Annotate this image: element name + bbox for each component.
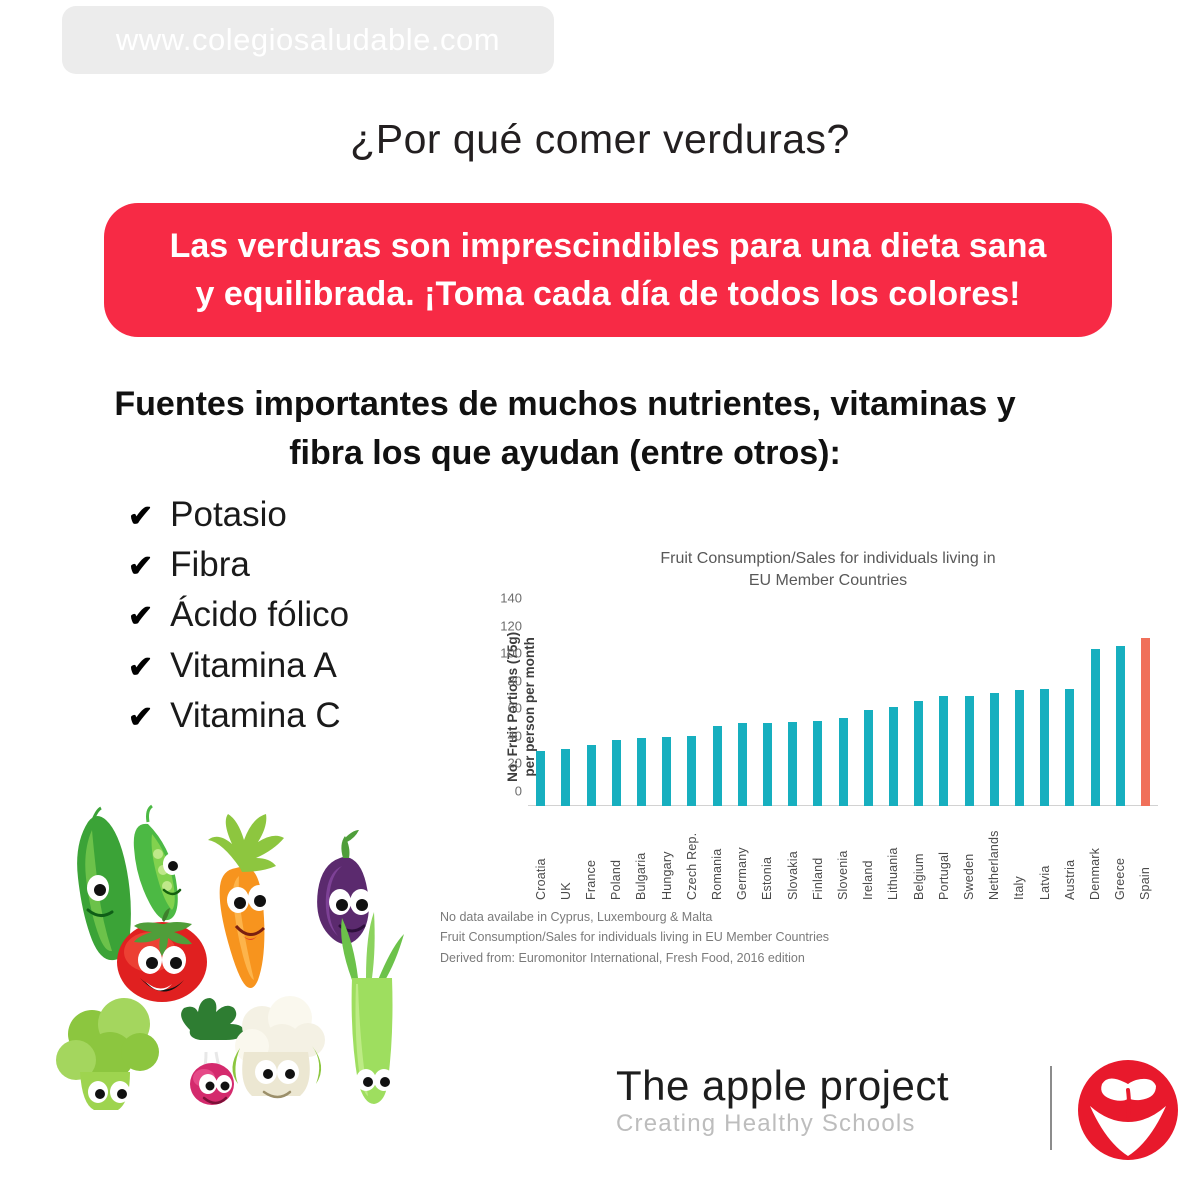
chart-x-tick-wrap: Austria [1057,808,1082,900]
chart-bar [738,723,747,806]
chart-x-tick-label: Denmark [1088,808,1102,900]
chart-bar [536,751,545,806]
chart-x-tick-label: Croatia [534,808,548,900]
chart-x-tick-label: Romania [710,808,724,900]
chart-bar-wrap [830,613,855,806]
chart-bar [1065,689,1074,806]
chart-y-tick: 140 [500,591,522,606]
chart-bar [864,710,873,807]
chart-x-tick-wrap: Denmark [1082,808,1107,900]
list-item-label: Potasio [170,492,287,538]
chart-x-tick-label: Bulgaria [634,808,648,900]
chart-bar [1015,690,1024,806]
highlight-banner: Las verduras son imprescindibles para un… [104,203,1112,337]
chart-x-tick-label: Slovenia [836,808,850,900]
list-item: ✔ Ácido fólico [128,592,349,638]
chart-bar-wrap [1108,613,1133,806]
check-icon: ✔ [128,602,153,632]
list-item-label: Vitamina C [170,693,341,739]
chart-x-tick-wrap: UK [553,808,578,900]
chart-bar-wrap [1133,613,1158,806]
chart-bar-wrap [1007,613,1032,806]
vegetables-svg [40,780,410,1110]
chart-title-line-1: Fruit Consumption/Sales for individuals … [548,548,1108,570]
chart-bar-wrap [654,613,679,806]
list-item: ✔ Potasio [128,492,349,538]
chart-x-tick-wrap: Greece [1108,808,1133,900]
list-item-label: Vitamina A [170,643,337,689]
chart-plot-area: 020406080100120140 [528,613,1158,806]
chart-bar [561,749,570,806]
chart-x-tick-label: Greece [1113,808,1127,900]
check-icon: ✔ [128,703,153,733]
chart-bar-wrap [881,613,906,806]
chart-bar-wrap [906,613,931,806]
page-title: ¿Por qué comer verduras? [0,116,1200,163]
chart-bar-wrap [1082,613,1107,806]
chart-x-tick-wrap: Netherlands [982,808,1007,900]
chart-x-tick-wrap: Slovenia [830,808,855,900]
chart-footnote: No data availabe in Cyprus, Luxembourg &… [440,907,1040,968]
chart-x-tick-wrap: Czech Rep. [679,808,704,900]
chart-bar [1141,638,1150,806]
chart-y-tick: 80 [508,673,522,688]
chart-bar-wrap [679,613,704,806]
chart-bar [788,722,797,806]
chart-bar-wrap [805,613,830,806]
chart-x-tick-wrap: Belgium [906,808,931,900]
radish-icon [181,998,244,1105]
chart-x-tick-wrap: France [578,808,603,900]
chart-bar [1116,646,1125,806]
check-icon: ✔ [128,653,153,683]
chart-x-tick-wrap: Finland [805,808,830,900]
chart-x-tick-wrap: Latvia [1032,808,1057,900]
chart-bar-wrap [553,613,578,806]
chart-x-tick-wrap: Romania [704,808,729,900]
chart-bar-wrap [1057,613,1082,806]
chart-x-tick-wrap: Lithuania [881,808,906,900]
banner-line-1: Las verduras son imprescindibles para un… [170,222,1047,270]
chart-x-tick-wrap: Hungary [654,808,679,900]
chart-x-tick-label: Belgium [912,808,926,900]
check-icon: ✔ [128,552,153,582]
list-item: ✔ Vitamina C [128,693,349,739]
chart-y-tick: 100 [500,646,522,661]
chart-bar-wrap [629,613,654,806]
footnote-line-1: No data availabe in Cyprus, Luxembourg &… [440,907,1040,927]
chart-x-tick-label: UK [559,808,573,900]
chart-bar-wrap [704,613,729,806]
chart-bar [914,701,923,806]
chart-bar-wrap [956,613,981,806]
chart-x-tick-label: Germany [735,808,749,900]
banner-line-2: y equilibrada. ¡Toma cada día de todos l… [196,270,1021,318]
chart-y-tick: 60 [508,701,522,716]
chart-bar [637,738,646,806]
chart-x-tick-label: Czech Rep. [685,808,699,900]
chart-title-line-2: EU Member Countries [548,570,1108,592]
logo-title: The apple project [616,1064,1036,1108]
chart-x-tick-label: Sweden [962,808,976,900]
chart-y-tick: 40 [508,728,522,743]
chart-bar [1091,649,1100,806]
chart-x-tick-label: France [584,808,598,900]
cucumber-icon [77,808,131,960]
chart-bar-wrap [856,613,881,806]
watermark-pill: www.colegiosaludable.com [62,6,554,74]
logo-text-block: The apple project Creating Healthy Schoo… [616,1064,1036,1139]
chart-bar-wrap [780,613,805,806]
chart-bar [662,737,671,806]
chart-x-tick-label: Poland [609,808,623,900]
chart-x-tick-wrap: Spain [1133,808,1158,900]
chart-x-tick-wrap: Italy [1007,808,1032,900]
list-item-label: Fibra [170,542,250,588]
chart-x-tick-label: Lithuania [886,808,900,900]
logo-divider [1050,1066,1052,1150]
chart-x-tick-wrap: Ireland [856,808,881,900]
chart-bar-wrap [528,613,553,806]
cauliflower-icon [232,996,325,1097]
chart-x-tick-labels: CroatiaUKFrancePolandBulgariaHungaryCzec… [528,808,1158,900]
chart-bar [587,745,596,806]
chart-bar [965,696,974,806]
chart-x-tick-label: Ireland [861,808,875,900]
subtitle-line-1: Fuentes importantes de muchos nutrientes… [60,380,1070,429]
footnote-line-3: Derived from: Euromonitor International,… [440,948,1040,968]
chart-x-tick-wrap: Portugal [931,808,956,900]
chart-bars [528,613,1158,806]
list-item-label: Ácido fólico [170,592,349,638]
list-item: ✔ Fibra [128,542,349,588]
carrot-icon [208,814,284,988]
chart-x-tick-label: Estonia [760,808,774,900]
chart-bar [687,736,696,806]
chart-x-tick-wrap: Slovakia [780,808,805,900]
logo-tagline: Creating Healthy Schools [616,1110,1036,1139]
chart-bar [713,726,722,806]
chart-bar-wrap [755,613,780,806]
chart-bar [939,696,948,806]
chart-x-tick-label: Italy [1012,808,1026,900]
brand-logo: The apple project Creating Healthy Schoo… [608,1058,1168,1168]
chart-bar [1040,689,1049,806]
vegetable-illustration [40,780,410,1110]
footnote-line-2: Fruit Consumption/Sales for individuals … [440,927,1040,947]
chart-bar [612,740,621,806]
chart-x-tick-wrap: Germany [730,808,755,900]
chart-x-tick-label: Slovakia [786,808,800,900]
nutrient-checklist: ✔ Potasio ✔ Fibra ✔ Ácido fólico ✔ Vitam… [128,492,349,739]
subtitle-line-2: fibra los que ayudan (entre otros): [60,429,1070,478]
broccoli-icon [56,998,159,1110]
chart-title: Fruit Consumption/Sales for individuals … [548,548,1108,592]
chart-y-tick: 0 [515,784,522,799]
list-item: ✔ Vitamina A [128,643,349,689]
chart-x-tick-wrap: Estonia [755,808,780,900]
chart-x-tick-wrap: Croatia [528,808,553,900]
chart-x-tick-wrap: Poland [604,808,629,900]
subtitle: Fuentes importantes de muchos nutrientes… [60,380,1070,479]
chart-bar [839,718,848,806]
chart-bar [990,693,999,806]
apple-icon [1076,1058,1180,1162]
chart-x-tick-wrap: Bulgaria [629,808,654,900]
chart-x-tick-label: Latvia [1038,808,1052,900]
chart-bar [763,723,772,806]
chart-bar [813,721,822,806]
chart-x-tick-label: Portugal [937,808,951,900]
pea-pod-icon [134,806,181,920]
chart-bar-wrap [730,613,755,806]
chart-x-tick-wrap: Sweden [956,808,981,900]
chart-bar [889,707,898,806]
watermark-text: www.colegiosaludable.com [116,22,500,58]
chart-bar-wrap [982,613,1007,806]
chart-y-tick: 20 [508,756,522,771]
fruit-consumption-chart: Fruit Consumption/Sales for individuals … [428,540,1188,980]
chart-bar-wrap [931,613,956,806]
chart-x-tick-label: Austria [1063,808,1077,900]
chart-x-tick-label: Netherlands [987,808,1001,900]
check-icon: ✔ [128,502,153,532]
chart-x-tick-label: Finland [811,808,825,900]
chart-x-tick-label: Hungary [660,808,674,900]
chart-bar-wrap [604,613,629,806]
chart-y-tick: 120 [500,618,522,633]
chart-bar-wrap [578,613,603,806]
chart-bar-wrap [1032,613,1057,806]
chart-x-tick-label: Spain [1138,808,1152,900]
